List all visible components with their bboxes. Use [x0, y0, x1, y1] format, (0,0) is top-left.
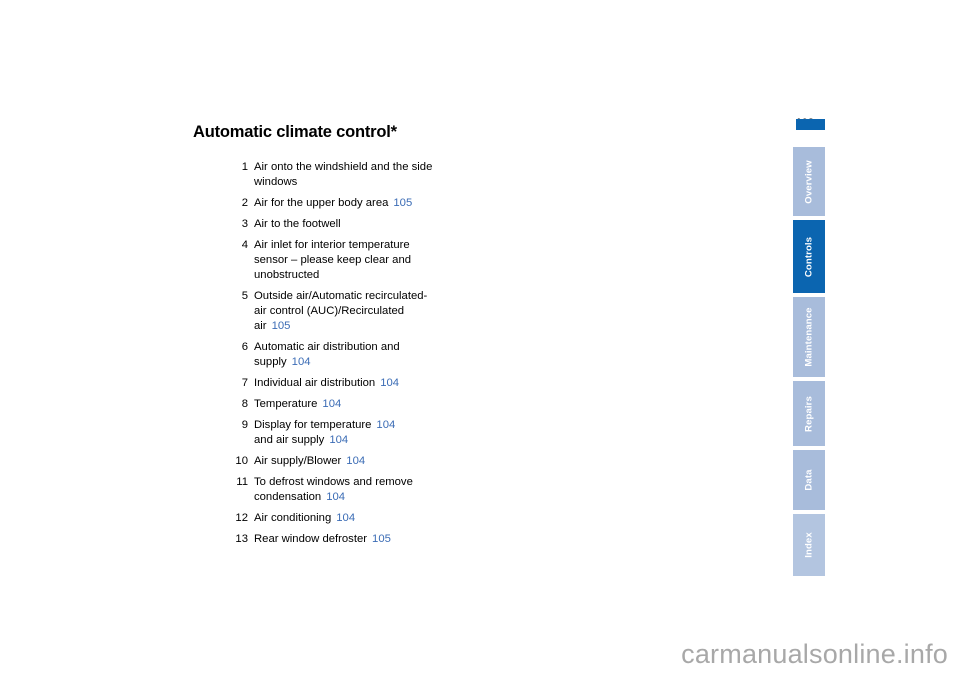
- legend-item-line: Individual air distribution104: [254, 376, 399, 391]
- legend-line-label: Outside air/Automatic recirculated-: [254, 290, 427, 302]
- legend-item: 12Air conditioning104: [226, 511, 646, 526]
- legend-item-number: 2: [226, 196, 254, 211]
- legend-line-label: To defrost windows and remove: [254, 476, 413, 488]
- legend-item-line: To defrost windows and remove: [254, 475, 413, 490]
- page-reference-link[interactable]: 105: [393, 197, 412, 209]
- legend-item-line: Temperature104: [254, 397, 341, 412]
- legend-item-text: Air supply/Blower104: [254, 454, 365, 469]
- section-tab-maintenance[interactable]: Maintenance: [793, 297, 825, 377]
- legend-item: 6Automatic air distribution andsupply104: [226, 340, 646, 370]
- legend-item-line: Air conditioning104: [254, 511, 355, 526]
- legend-item-line: supply104: [254, 355, 400, 370]
- section-tab-controls[interactable]: Controls: [793, 220, 825, 293]
- legend-line-label: unobstructed: [254, 269, 319, 281]
- legend-item-line: Automatic air distribution and: [254, 340, 400, 355]
- section-tab-label: Maintenance: [804, 307, 815, 366]
- section-tab-label: Data: [804, 469, 815, 490]
- legend-item-number: 11: [226, 475, 254, 490]
- legend-item: 1Air onto the windshield and the sidewin…: [226, 160, 646, 190]
- legend-item-line: and air supply104: [254, 433, 395, 448]
- legend-item-line: Air supply/Blower104: [254, 454, 365, 469]
- legend-item-text: Air conditioning104: [254, 511, 355, 526]
- legend-item-number: 6: [226, 340, 254, 355]
- legend-list: 1Air onto the windshield and the sidewin…: [186, 160, 646, 553]
- legend-item-number: 4: [226, 238, 254, 253]
- legend-item-line: condensation104: [254, 490, 413, 505]
- page-reference-link[interactable]: 105: [272, 320, 291, 332]
- legend-item-text: Air to the footwell: [254, 217, 341, 232]
- legend-line-label: Temperature: [254, 398, 317, 410]
- legend-item-line: unobstructed: [254, 268, 411, 283]
- watermark: carmanualsonline.info: [681, 639, 948, 670]
- legend-item-line: Outside air/Automatic recirculated-: [254, 289, 427, 304]
- legend-item-text: Air for the upper body area105: [254, 196, 412, 211]
- legend-item-number: 12: [226, 511, 254, 526]
- legend-line-label: supply: [254, 356, 287, 368]
- page-reference-link[interactable]: 104: [336, 512, 355, 524]
- legend-item-line: Air for the upper body area105: [254, 196, 412, 211]
- legend-item: 9Display for temperature104and air suppl…: [226, 418, 646, 448]
- legend-item-text: Outside air/Automatic recirculated-air c…: [254, 289, 427, 334]
- legend-item-line: Display for temperature104: [254, 418, 395, 433]
- legend-line-label: Rear window defroster: [254, 533, 367, 545]
- legend-item: 13Rear window defroster105: [226, 532, 646, 547]
- legend-item-number: 1: [226, 160, 254, 175]
- legend-item-text: Display for temperature104and air supply…: [254, 418, 395, 448]
- legend-item-line: Air onto the windshield and the side: [254, 160, 432, 175]
- legend-line-label: air: [254, 320, 267, 332]
- legend-item-line: air105: [254, 319, 427, 334]
- page-reference-link[interactable]: 104: [292, 356, 311, 368]
- page-title: Automatic climate control*: [193, 123, 397, 142]
- page-reference-link[interactable]: 104: [380, 377, 399, 389]
- legend-item-number: 9: [226, 418, 254, 433]
- legend-item: 11To defrost windows and removecondensat…: [226, 475, 646, 505]
- page-reference-link[interactable]: 104: [329, 434, 348, 446]
- legend-item-number: 8: [226, 397, 254, 412]
- legend-line-label: Air for the upper body area: [254, 197, 388, 209]
- legend-line-label: Air supply/Blower: [254, 455, 341, 467]
- legend-item-text: Air inlet for interior temperaturesensor…: [254, 238, 411, 283]
- legend-item-number: 5: [226, 289, 254, 304]
- legend-item-number: 13: [226, 532, 254, 547]
- page-reference-link[interactable]: 104: [322, 398, 341, 410]
- section-tab-label: Overview: [804, 160, 815, 203]
- legend-line-label: Air conditioning: [254, 512, 331, 524]
- legend-line-label: Display for temperature: [254, 419, 371, 431]
- legend-item-line: Rear window defroster105: [254, 532, 391, 547]
- legend-item-number: 3: [226, 217, 254, 232]
- legend-line-label: Automatic air distribution and: [254, 341, 400, 353]
- section-tab-label: Controls: [804, 236, 815, 276]
- page-reference-link[interactable]: 105: [372, 533, 391, 545]
- legend-item-number: 10: [226, 454, 254, 469]
- section-tab-strip: OverviewControlsMaintenanceRepairsDataIn…: [793, 147, 825, 543]
- section-tab-label: Index: [804, 532, 815, 558]
- legend-item: 3Air to the footwell: [226, 217, 646, 232]
- section-tab-data[interactable]: Data: [793, 450, 825, 510]
- legend-item-text: Rear window defroster105: [254, 532, 391, 547]
- page-reference-link[interactable]: 104: [346, 455, 365, 467]
- manual-page: Automatic climate control* 103 1Air onto…: [0, 0, 960, 678]
- legend-line-label: windows: [254, 176, 297, 188]
- legend-line-label: condensation: [254, 491, 321, 503]
- legend-item: 10Air supply/Blower104: [226, 454, 646, 469]
- legend-item: 4Air inlet for interior temperaturesenso…: [226, 238, 646, 283]
- legend-line-label: Air onto the windshield and the side: [254, 161, 432, 173]
- legend-item-line: windows: [254, 175, 432, 190]
- legend-item-line: sensor – please keep clear and: [254, 253, 411, 268]
- legend-item-text: Automatic air distribution andsupply104: [254, 340, 400, 370]
- section-tab-overview[interactable]: Overview: [793, 147, 825, 216]
- legend-item: 5Outside air/Automatic recirculated-air …: [226, 289, 646, 334]
- legend-line-label: air control (AUC)/Recirculated: [254, 305, 404, 317]
- legend-item-text: Individual air distribution104: [254, 376, 399, 391]
- page-reference-link[interactable]: 104: [376, 419, 395, 431]
- legend-item-line: Air inlet for interior temperature: [254, 238, 411, 253]
- page-reference-link[interactable]: 104: [326, 491, 345, 503]
- legend-item-line: air control (AUC)/Recirculated: [254, 304, 427, 319]
- legend-item-text: Temperature104: [254, 397, 341, 412]
- page-marker-bar: [796, 119, 825, 130]
- legend-line-label: Individual air distribution: [254, 377, 375, 389]
- section-tab-repairs[interactable]: Repairs: [793, 381, 825, 446]
- legend-line-label: Air inlet for interior temperature: [254, 239, 410, 251]
- section-tab-index[interactable]: Index: [793, 514, 825, 576]
- legend-item-text: To defrost windows and removecondensatio…: [254, 475, 413, 505]
- legend-item-text: Air onto the windshield and the sidewind…: [254, 160, 432, 190]
- legend-item-line: Air to the footwell: [254, 217, 341, 232]
- legend-line-label: Air to the footwell: [254, 218, 341, 230]
- legend-line-label: and air supply: [254, 434, 324, 446]
- section-tab-label: Repairs: [804, 396, 815, 432]
- legend-line-label: sensor – please keep clear and: [254, 254, 411, 266]
- legend-item: 7Individual air distribution104: [226, 376, 646, 391]
- legend-item: 2Air for the upper body area105: [226, 196, 646, 211]
- legend-item-number: 7: [226, 376, 254, 391]
- legend-item: 8Temperature104: [226, 397, 646, 412]
